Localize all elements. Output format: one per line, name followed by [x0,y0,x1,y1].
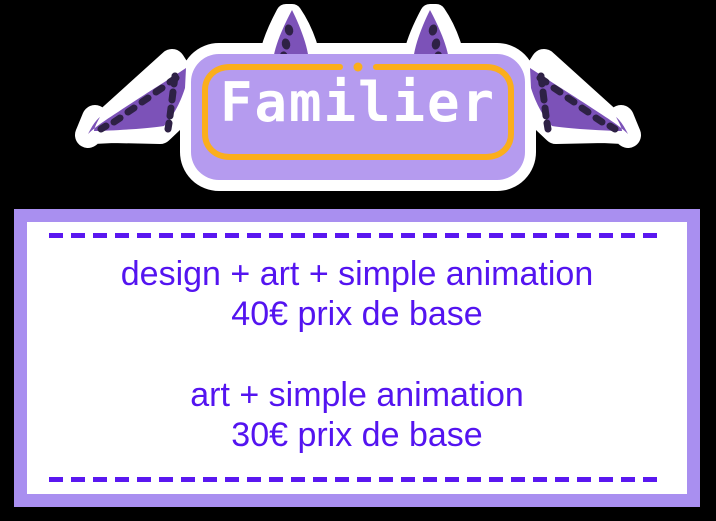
price-info-panel: design + art + simple animation 40€ prix… [14,209,700,507]
bottom-dashed-divider [49,477,665,482]
offer-price: 40€ prix de base [121,294,593,334]
list-item: design + art + simple animation 40€ prix… [121,254,593,334]
list-item: art + simple animation 30€ prix de base [190,375,524,455]
plaque-body [191,54,525,180]
plaque-group [191,54,525,180]
offer-description: art + simple animation [190,375,524,415]
commission-price-card: Familier design + art + simple animation… [0,0,716,521]
banner-artwork [0,0,716,200]
orange-center-dot [354,63,363,72]
offer-list: design + art + simple animation 40€ prix… [49,238,665,477]
offer-description: design + art + simple animation [121,254,593,294]
banner-header: Familier [0,0,716,200]
offer-price: 30€ prix de base [190,415,524,455]
